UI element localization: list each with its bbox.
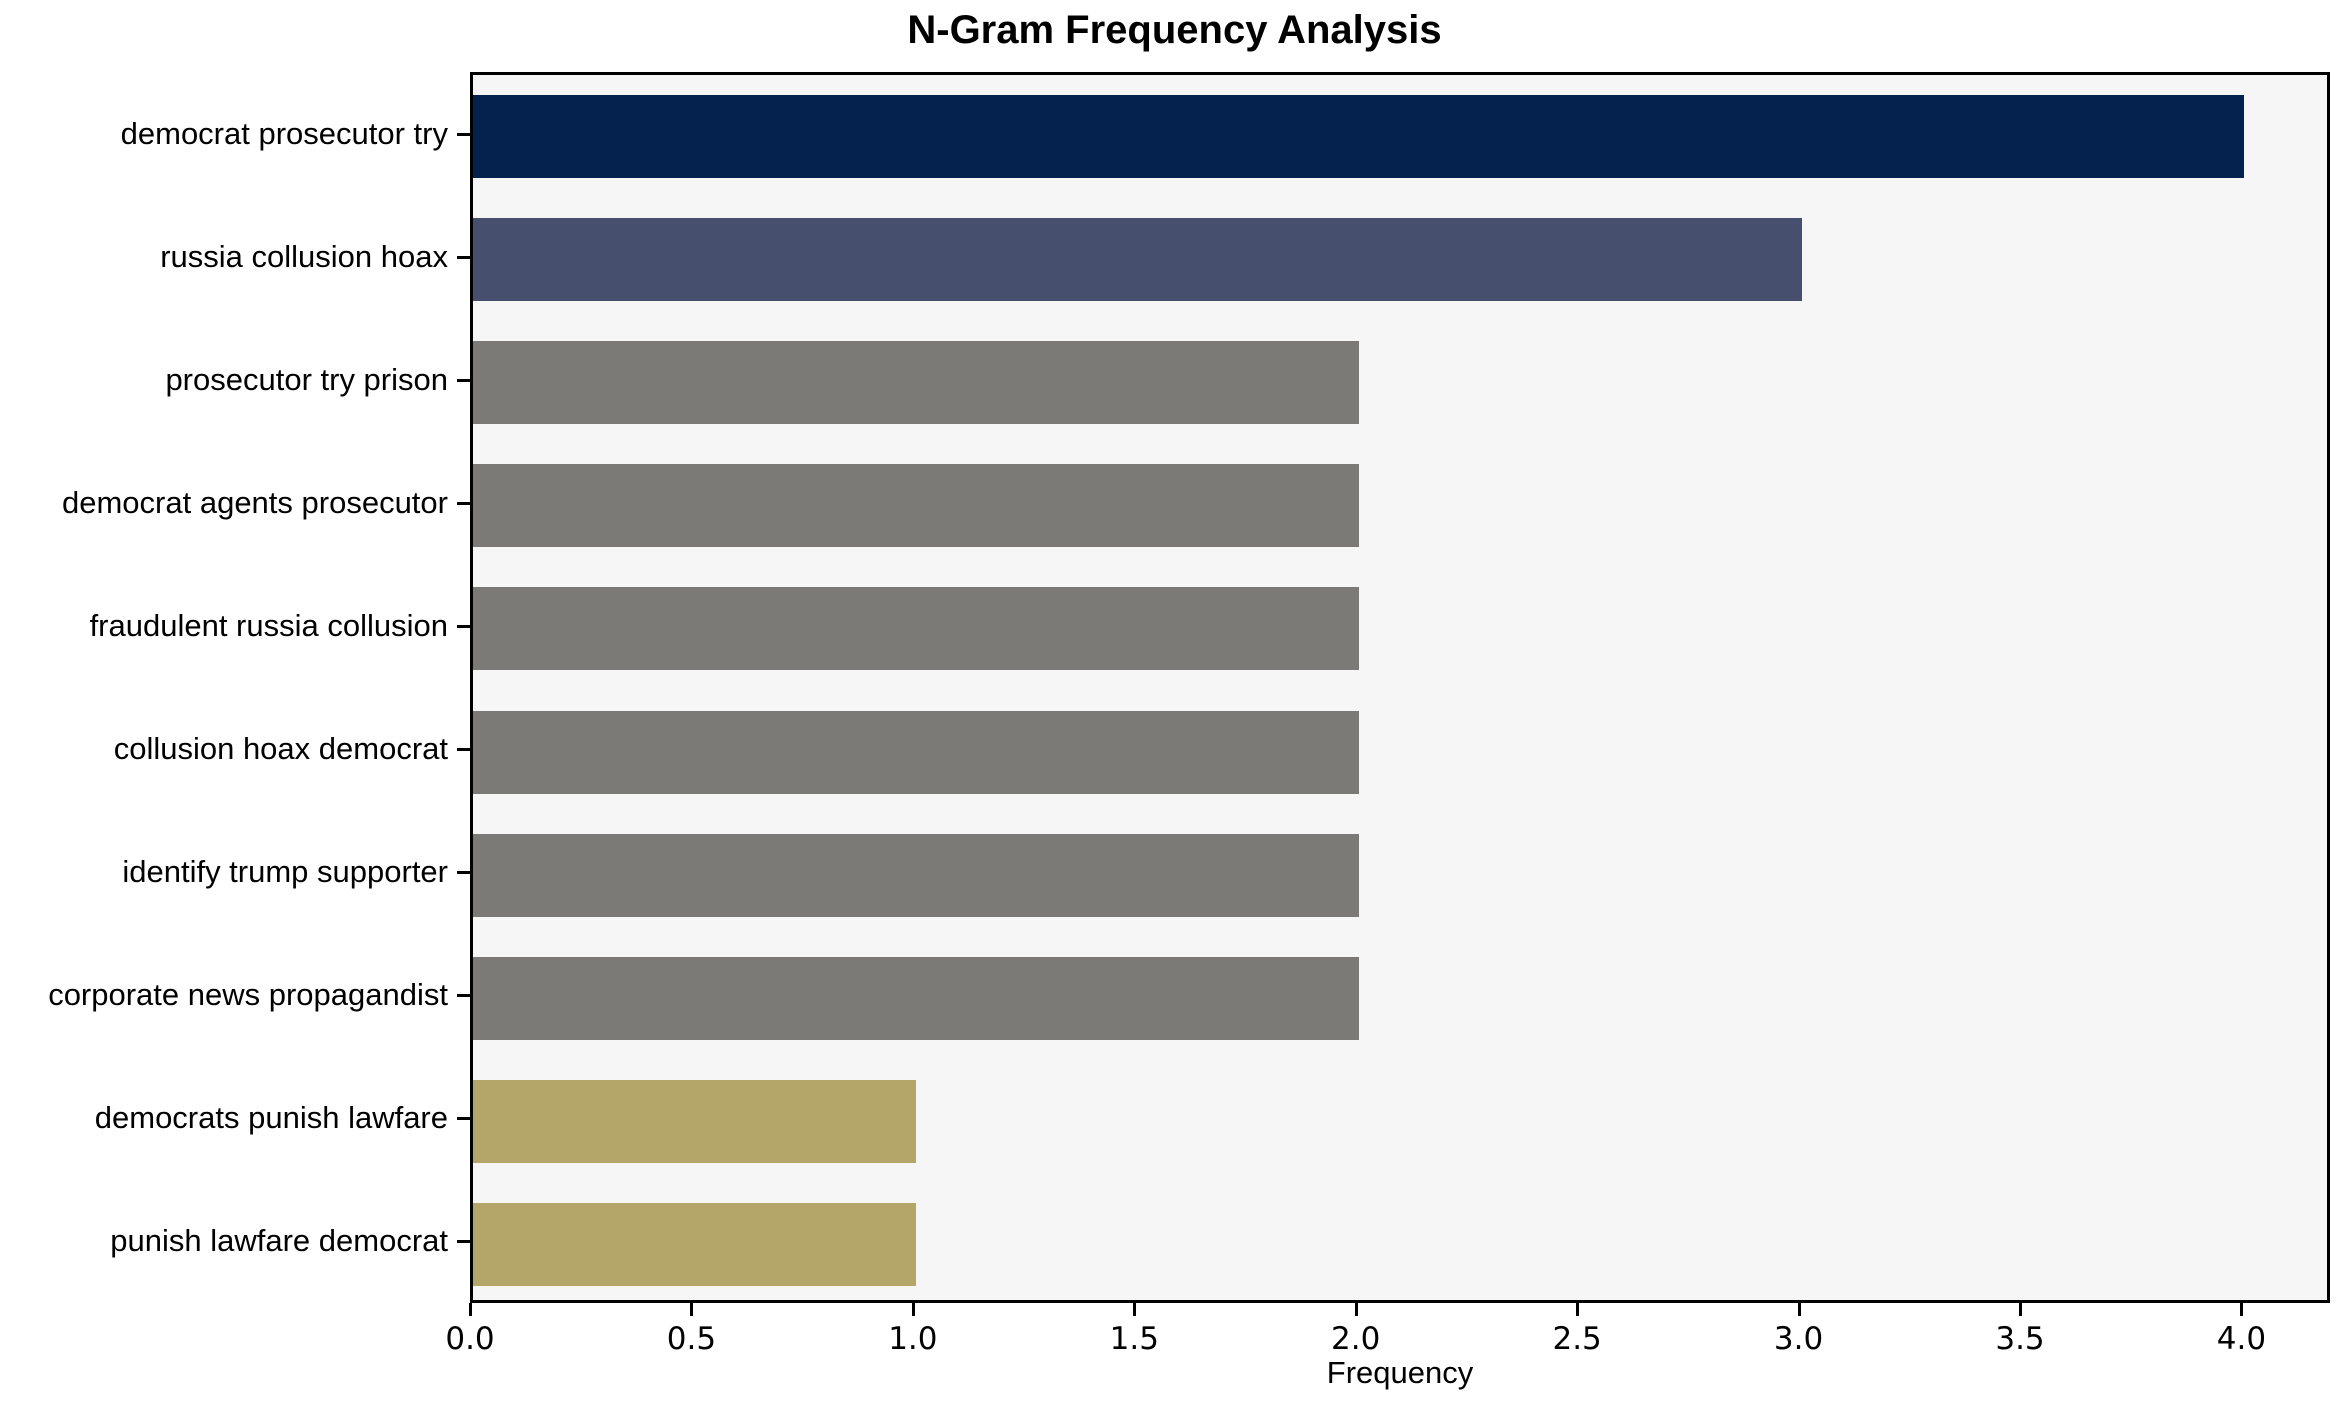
x-axis-label: Frequency: [470, 1355, 2330, 1391]
y-tick-label: russia collusion hoax: [160, 237, 448, 277]
x-tick-label: 0.5: [621, 1321, 761, 1357]
chart-title: N-Gram Frequency Analysis: [0, 8, 2349, 53]
x-tick-label: 2.0: [1286, 1321, 1426, 1357]
y-tick-mark: [457, 256, 470, 259]
bar: [473, 1203, 916, 1286]
x-tick-mark: [1355, 1303, 1358, 1316]
bar: [473, 587, 1359, 670]
y-tick-mark: [457, 1240, 470, 1243]
x-tick-mark: [912, 1303, 915, 1316]
y-tick-mark: [457, 133, 470, 136]
bar: [473, 464, 1359, 547]
y-tick-mark: [457, 1117, 470, 1120]
bar: [473, 95, 2244, 178]
x-tick-label: 0.0: [400, 1321, 540, 1357]
y-tick-label: fraudulent russia collusion: [90, 606, 448, 646]
bar: [473, 834, 1359, 917]
bar: [473, 957, 1359, 1040]
y-tick-label: corporate news propagandist: [48, 975, 448, 1015]
bar: [473, 341, 1359, 424]
plot-area: [470, 72, 2330, 1303]
bars-layer: [473, 75, 2327, 1300]
x-tick-label: 3.5: [1950, 1321, 2090, 1357]
bar: [473, 711, 1359, 794]
y-tick-label: prosecutor try prison: [165, 360, 448, 400]
y-tick-label: punish lawfare democrat: [110, 1221, 448, 1261]
x-tick-mark: [1576, 1303, 1579, 1316]
bar: [473, 1080, 916, 1163]
y-axis-tick-labels: democrat prosecutor tryrussia collusion …: [0, 72, 470, 1303]
x-tick-mark: [469, 1303, 472, 1316]
x-tick-label: 1.5: [1064, 1321, 1204, 1357]
y-tick-mark: [457, 625, 470, 628]
y-tick-mark: [457, 502, 470, 505]
y-tick-label: identify trump supporter: [122, 852, 448, 892]
y-tick-mark: [457, 379, 470, 382]
y-tick-label: collusion hoax democrat: [114, 729, 448, 769]
x-tick-label: 2.5: [1507, 1321, 1647, 1357]
bar: [473, 218, 1802, 301]
x-tick-label: 4.0: [2171, 1321, 2311, 1357]
chart-figure: N-Gram Frequency Analysis democrat prose…: [0, 0, 2349, 1414]
y-tick-label: democrat agents prosecutor: [62, 483, 448, 523]
y-tick-label: democrat prosecutor try: [121, 114, 448, 154]
x-tick-mark: [1133, 1303, 1136, 1316]
y-tick-mark: [457, 748, 470, 751]
x-tick-mark: [690, 1303, 693, 1316]
y-tick-mark: [457, 994, 470, 997]
x-tick-label: 3.0: [1729, 1321, 1869, 1357]
y-tick-mark: [457, 871, 470, 874]
x-tick-mark: [2019, 1303, 2022, 1316]
x-tick-mark: [1798, 1303, 1801, 1316]
x-tick-label: 1.0: [843, 1321, 983, 1357]
x-tick-mark: [2240, 1303, 2243, 1316]
y-tick-label: democrats punish lawfare: [95, 1098, 448, 1138]
